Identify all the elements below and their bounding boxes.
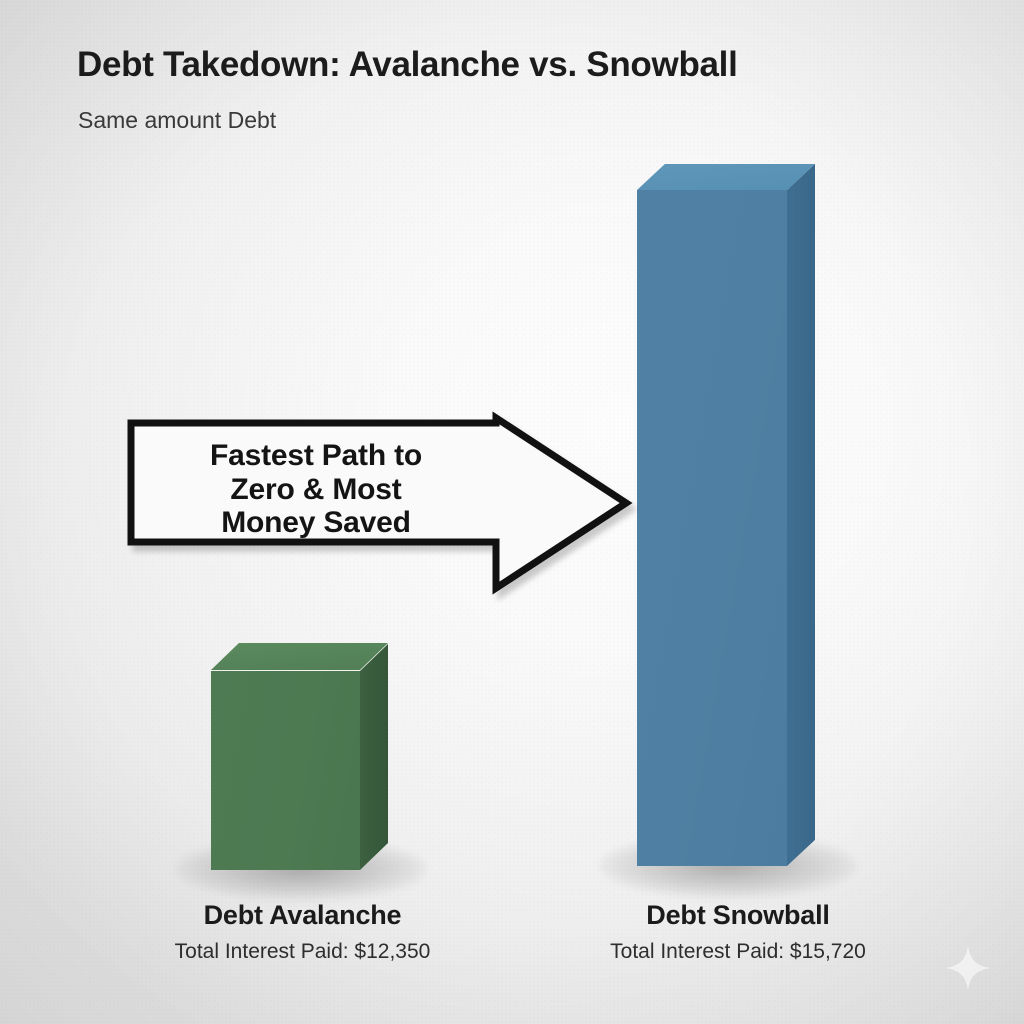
bar-snowball-front-face: [637, 190, 787, 866]
chart-canvas: Debt Takedown: Avalanche vs. Snowball Sa…: [0, 0, 1024, 1024]
category-label-avalanche: Debt Avalanche Total Interest Paid: $12,…: [130, 900, 475, 964]
bar-avalanche-front-face: [211, 671, 360, 870]
callout-line-2: Zero & Most: [156, 473, 476, 507]
avalanche-name: Debt Avalanche: [130, 900, 475, 931]
callout-line-3: Money Saved: [156, 506, 476, 540]
category-label-snowball: Debt Snowball Total Interest Paid: $15,7…: [548, 900, 928, 964]
callout-line-1: Fastest Path to: [156, 439, 476, 473]
sparkle-icon: [944, 944, 992, 992]
snowball-name: Debt Snowball: [548, 900, 928, 931]
avalanche-interest-value: Total Interest Paid: $12,350: [130, 940, 475, 964]
bar-debt-snowball[interactable]: [637, 164, 787, 866]
bar-avalanche-side-face: [360, 644, 388, 870]
chart-subtitle: Same amount Debt: [78, 107, 276, 134]
chart-title: Debt Takedown: Avalanche vs. Snowball: [77, 45, 738, 85]
callout-annotation[interactable]: Fastest Path to Zero & Most Money Saved: [126, 415, 638, 591]
bar-avalanche-top-face: [211, 643, 388, 670]
bar-debt-avalanche[interactable]: [211, 643, 360, 870]
callout-text: Fastest Path to Zero & Most Money Saved: [156, 439, 476, 540]
bar-snowball-top-face: [637, 164, 815, 190]
snowball-interest-value: Total Interest Paid: $15,720: [548, 940, 928, 964]
bar-snowball-side-face: [787, 164, 815, 866]
